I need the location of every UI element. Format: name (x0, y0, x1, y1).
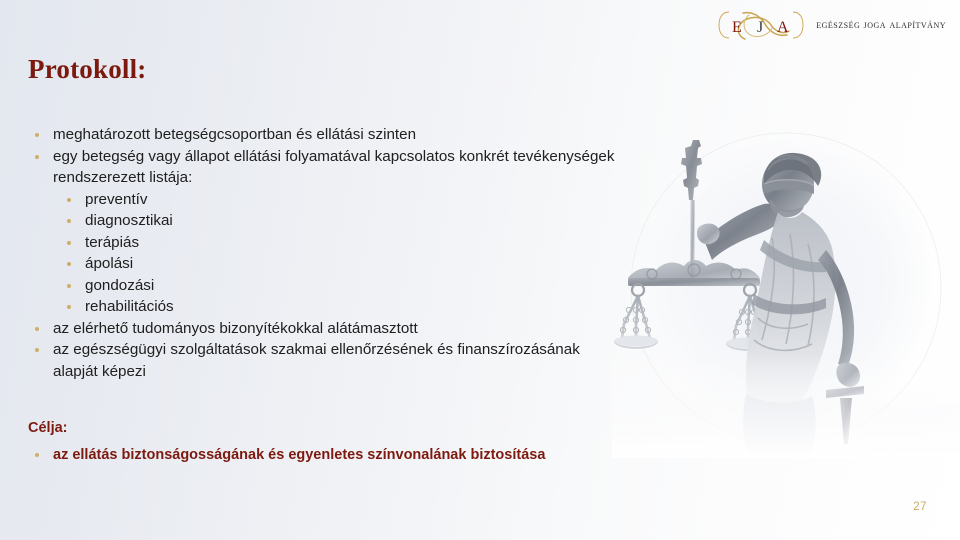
organization-name: Egészség Joga Alapítvány (816, 19, 946, 31)
bullet-list-level1-continued: az elérhető tudományos bizonyítékokkal a… (28, 318, 628, 383)
list-item: egy betegség vagy állapot ellátási folya… (28, 146, 628, 189)
goal-heading: Célja: (28, 419, 648, 438)
list-item: meghatározott betegségcsoportban és ellá… (28, 124, 628, 146)
list-item: az ellátás biztonságosságának és egyenle… (28, 445, 648, 465)
list-item: az elérhető tudományos bizonyítékokkal a… (28, 318, 628, 340)
page-title: Protokoll: (28, 54, 147, 85)
lady-justice-image (612, 128, 960, 458)
svg-text:J: J (757, 19, 763, 36)
bullet-list-level2: preventív diagnosztikai terápiás ápolási… (28, 189, 628, 318)
goal-bullet-list: az ellátás biztonságosságának és egyenle… (28, 445, 648, 465)
list-item: az egészségügyi szolgáltatások szakmai e… (28, 339, 628, 382)
list-item: rehabilitációs (55, 296, 628, 318)
list-item: ápolási (55, 253, 628, 275)
slide-canvas: E J A Egészség Joga Alapítvány Protokoll… (0, 0, 960, 540)
svg-text:A: A (777, 19, 789, 36)
bullet-list-level1: meghatározott betegségcsoportban és ellá… (28, 124, 628, 189)
organization-logo: E J A Egészség Joga Alapítvány (715, 6, 946, 44)
list-item: preventív (55, 189, 628, 211)
content-body: meghatározott betegségcsoportban és ellá… (28, 124, 628, 382)
page-number: 27 (913, 501, 927, 513)
goal-section: Célja: az ellátás biztonságosságának és … (28, 419, 648, 465)
list-item: terápiás (55, 232, 628, 254)
svg-text:E: E (732, 19, 742, 36)
eja-monogram-icon: E J A (715, 7, 807, 43)
list-item: diagnosztikai (55, 210, 628, 232)
list-item: gondozási (55, 275, 628, 297)
